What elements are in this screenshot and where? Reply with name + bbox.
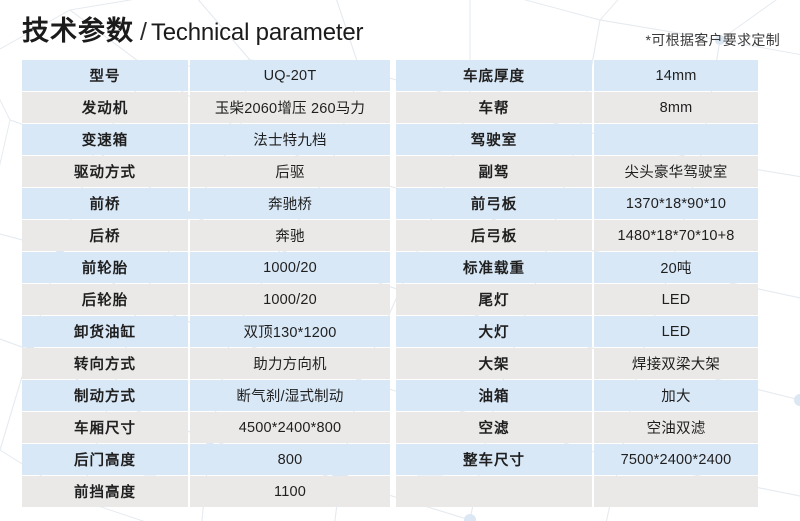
spec-label-cell: 发动机	[22, 92, 188, 123]
spec-value-cell: 14mm	[594, 60, 758, 91]
spec-value-cell: 断气刹/湿式制动	[190, 380, 390, 411]
spec-label-cell: 大架	[396, 348, 592, 379]
spec-value-cell: 20吨	[594, 252, 758, 283]
table-row: 尾灯LED	[396, 284, 758, 315]
spec-sheet-page: 技术参数/Technical parameter *可根据客户要求定制 型号UQ…	[0, 0, 800, 521]
spec-label-cell	[396, 476, 592, 507]
spec-label-cell: 后门高度	[22, 444, 188, 475]
spec-value-cell: 1000/20	[190, 252, 390, 283]
spec-label-cell: 驱动方式	[22, 156, 188, 187]
spec-label-cell: 驾驶室	[396, 124, 592, 155]
spec-label-cell: 前弓板	[396, 188, 592, 219]
spec-label-cell: 空滤	[396, 412, 592, 443]
spec-value-cell: 1480*18*70*10+8	[594, 220, 758, 251]
spec-label-cell: 后轮胎	[22, 284, 188, 315]
table-row: 驾驶室	[396, 124, 758, 155]
spec-value-cell: 法士特九档	[190, 124, 390, 155]
table-row: 后桥奔驰	[22, 220, 390, 251]
spec-value-cell: 双顶130*1200	[190, 316, 390, 347]
table-row: 前挡高度1100	[22, 476, 390, 507]
table-row: 前轮胎1000/20	[22, 252, 390, 283]
spec-label-cell: 转向方式	[22, 348, 188, 379]
spec-value-cell: LED	[594, 316, 758, 347]
table-row: 后轮胎1000/20	[22, 284, 390, 315]
spec-value-cell: 8mm	[594, 92, 758, 123]
spec-label-cell: 前桥	[22, 188, 188, 219]
table-row: 前弓板1370*18*90*10	[396, 188, 758, 219]
spec-value-cell	[594, 124, 758, 155]
spec-value-cell: 后驱	[190, 156, 390, 187]
table-row: 大灯LED	[396, 316, 758, 347]
spec-label-cell: 油箱	[396, 380, 592, 411]
spec-value-cell: 焊接双梁大架	[594, 348, 758, 379]
table-row: 转向方式助力方向机	[22, 348, 390, 379]
page-header: 技术参数/Technical parameter *可根据客户要求定制	[0, 0, 800, 58]
table-row: 标准载重20吨	[396, 252, 758, 283]
customization-note: *可根据客户要求定制	[646, 30, 780, 50]
spec-label-cell: 前轮胎	[22, 252, 188, 283]
spec-label-cell: 车底厚度	[396, 60, 592, 91]
spec-value-cell	[594, 476, 758, 507]
spec-table-right: 车底厚度14mm车帮8mm驾驶室副驾尖头豪华驾驶室前弓板1370*18*90*1…	[396, 60, 758, 508]
spec-label-cell: 副驾	[396, 156, 592, 187]
table-row: 制动方式断气刹/湿式制动	[22, 380, 390, 411]
spec-value-cell: 1370*18*90*10	[594, 188, 758, 219]
spec-value-cell: 4500*2400*800	[190, 412, 390, 443]
table-row: 前桥奔驰桥	[22, 188, 390, 219]
spec-label-cell: 后弓板	[396, 220, 592, 251]
page-title: 技术参数/Technical parameter	[22, 18, 363, 45]
spec-label-cell: 标准载重	[396, 252, 592, 283]
spec-label-cell: 制动方式	[22, 380, 188, 411]
spec-value-cell: 1100	[190, 476, 390, 507]
table-row: 整车尺寸7500*2400*2400	[396, 444, 758, 475]
table-row: 变速箱法士特九档	[22, 124, 390, 155]
spec-value-cell: 奔驰桥	[190, 188, 390, 219]
spec-value-cell: 玉柴2060增压 260马力	[190, 92, 390, 123]
spec-label-cell: 车帮	[396, 92, 592, 123]
table-row: 发动机玉柴2060增压 260马力	[22, 92, 390, 123]
spec-label-cell: 型号	[22, 60, 188, 91]
spec-label-cell: 变速箱	[22, 124, 188, 155]
spec-label-cell: 车厢尺寸	[22, 412, 188, 443]
page-title-english: Technical parameter	[151, 19, 363, 46]
spec-label-cell: 卸货油缸	[22, 316, 188, 347]
spec-value-cell: 助力方向机	[190, 348, 390, 379]
spec-label-cell: 后桥	[22, 220, 188, 251]
spec-value-cell: 奔驰	[190, 220, 390, 251]
spec-value-cell: 尖头豪华驾驶室	[594, 156, 758, 187]
page-title-chinese: 技术参数	[22, 16, 134, 46]
table-row: 型号UQ-20T	[22, 60, 390, 91]
table-row: 驱动方式后驱	[22, 156, 390, 187]
table-row: 车厢尺寸4500*2400*800	[22, 412, 390, 443]
table-row	[396, 476, 758, 507]
spec-label-cell: 大灯	[396, 316, 592, 347]
spec-value-cell: 7500*2400*2400	[594, 444, 758, 475]
spec-value-cell: 加大	[594, 380, 758, 411]
table-row: 大架焊接双梁大架	[396, 348, 758, 379]
page-title-separator: /	[140, 18, 147, 46]
spec-label-cell: 整车尺寸	[396, 444, 592, 475]
spec-value-cell: UQ-20T	[190, 60, 390, 91]
table-row: 卸货油缸双顶130*1200	[22, 316, 390, 347]
table-row: 油箱加大	[396, 380, 758, 411]
table-row: 车底厚度14mm	[396, 60, 758, 91]
table-row: 副驾尖头豪华驾驶室	[396, 156, 758, 187]
table-row: 空滤空油双滤	[396, 412, 758, 443]
table-row: 车帮8mm	[396, 92, 758, 123]
spec-table-left: 型号UQ-20T发动机玉柴2060增压 260马力变速箱法士特九档驱动方式后驱前…	[22, 60, 390, 508]
table-row: 后弓板1480*18*70*10+8	[396, 220, 758, 251]
spec-value-cell: 空油双滤	[594, 412, 758, 443]
spec-value-cell: 1000/20	[190, 284, 390, 315]
spec-label-cell: 前挡高度	[22, 476, 188, 507]
spec-value-cell: 800	[190, 444, 390, 475]
spec-label-cell: 尾灯	[396, 284, 592, 315]
spec-value-cell: LED	[594, 284, 758, 315]
table-row: 后门高度800	[22, 444, 390, 475]
